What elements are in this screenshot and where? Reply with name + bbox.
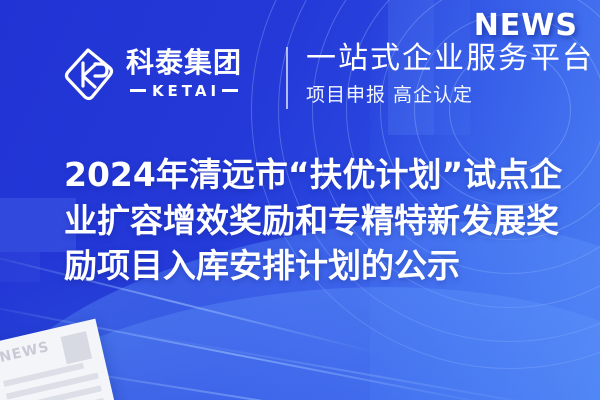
tagline-secondary: 项目申报 高企认定 <box>306 80 594 107</box>
article-title-line: 励项目入库安排计划的公示 <box>64 243 564 289</box>
newspaper-illustration: NEWS <box>0 319 118 400</box>
article-title-line: 2024年清远市“扶优计划”试点企 <box>64 152 564 198</box>
logo-wordmark: 科泰集团 KETAI <box>126 49 242 100</box>
header-divider <box>286 47 288 109</box>
brand-logo[interactable]: 科泰集团 KETAI <box>62 44 242 104</box>
brand-tagline: 一站式企业服务平台 项目申报 高企认定 <box>306 42 594 107</box>
tagline-primary: 一站式企业服务平台 <box>306 42 594 76</box>
logo-dash-left-icon <box>130 89 146 92</box>
image-placeholder-block-icon <box>61 331 93 364</box>
ketai-diamond-monogram-icon <box>62 44 118 104</box>
banner-header: NEWS 科泰集团 KETAI <box>0 0 600 135</box>
logo-dash-right-icon <box>222 89 238 92</box>
left-light-block-secondary <box>0 252 40 282</box>
news-label: NEWS <box>474 8 578 43</box>
logo-chinese-name: 科泰集团 <box>126 49 242 77</box>
logo-english-name: KETAI <box>152 82 220 100</box>
article-title-line: 业扩容增效奖励和专精特新发展奖 <box>64 198 564 244</box>
logo-english-name-row: KETAI <box>126 82 242 100</box>
light-streak <box>120 330 593 400</box>
newspaper-heading: NEWS <box>0 339 51 366</box>
article-title[interactable]: 2024年清远市“扶优计划”试点企 业扩容增效奖励和专精特新发展奖 励项目入库安… <box>64 152 564 289</box>
news-banner: NEWS 科泰集团 KETAI <box>0 0 600 400</box>
